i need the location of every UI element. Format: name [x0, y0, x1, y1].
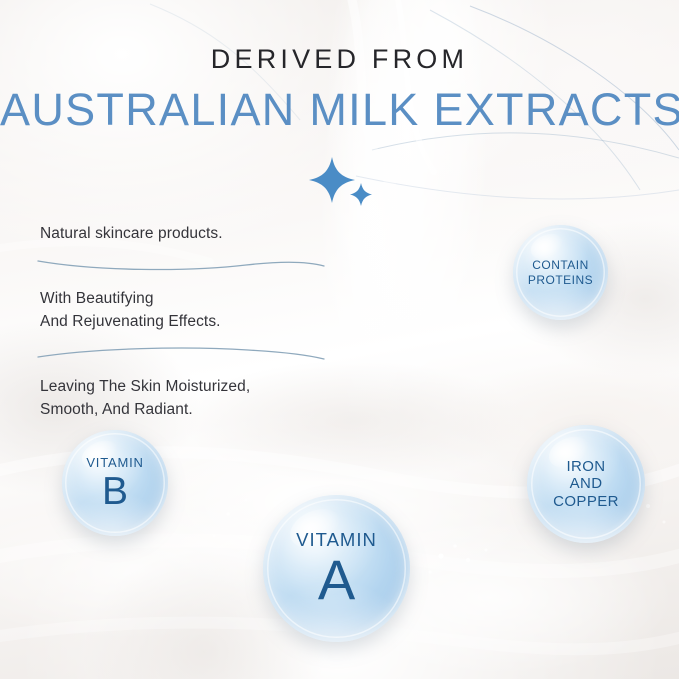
body-copy: Natural skincare products. With Beautify… — [40, 222, 340, 422]
bubble-label-line: VITAMIN — [296, 529, 377, 551]
sparkle-star-large-icon — [309, 157, 355, 203]
copy-line: Leaving The Skin Moisturized, — [40, 375, 340, 399]
copy-line: With Beautifying — [40, 287, 340, 311]
bubble-letter: B — [102, 472, 128, 511]
bubble-label-line: PROTEINS — [528, 273, 593, 287]
bubble-iron-and-copper: IRON AND COPPER — [527, 425, 645, 543]
page-title: AUSTRALIAN MILK EXTRACTS — [0, 87, 679, 132]
bubble-label-line: VITAMIN — [86, 455, 143, 470]
bubble-label-line: CONTAIN — [532, 258, 589, 272]
copy-line: Natural skincare products. — [40, 222, 340, 246]
headline-block: DERIVED FROM AUSTRALIAN MILK EXTRACTS — [0, 46, 679, 132]
bubble-label-line: AND — [570, 475, 603, 492]
wavy-divider-1 — [36, 252, 326, 278]
copy-line: And Rejuvenating Effects. — [40, 310, 340, 334]
sparkle-group — [306, 155, 378, 211]
bubble-contain-proteins: CONTAIN PROTEINS — [513, 225, 608, 320]
bubble-vitamin-a: VITAMIN A — [263, 495, 410, 642]
bubble-vitamin-b: VITAMIN B — [62, 430, 168, 536]
poster-canvas: DERIVED FROM AUSTRALIAN MILK EXTRACTS Na… — [0, 0, 679, 679]
bubble-letter: A — [318, 552, 355, 608]
bubble-label-line: IRON — [566, 458, 605, 475]
bubble-label-line: COPPER — [553, 493, 619, 510]
sparkle-star-small-icon — [350, 183, 372, 206]
copy-line: Smooth, And Radiant. — [40, 398, 340, 422]
kicker-text: DERIVED FROM — [0, 46, 679, 73]
wavy-divider-2 — [36, 340, 326, 366]
